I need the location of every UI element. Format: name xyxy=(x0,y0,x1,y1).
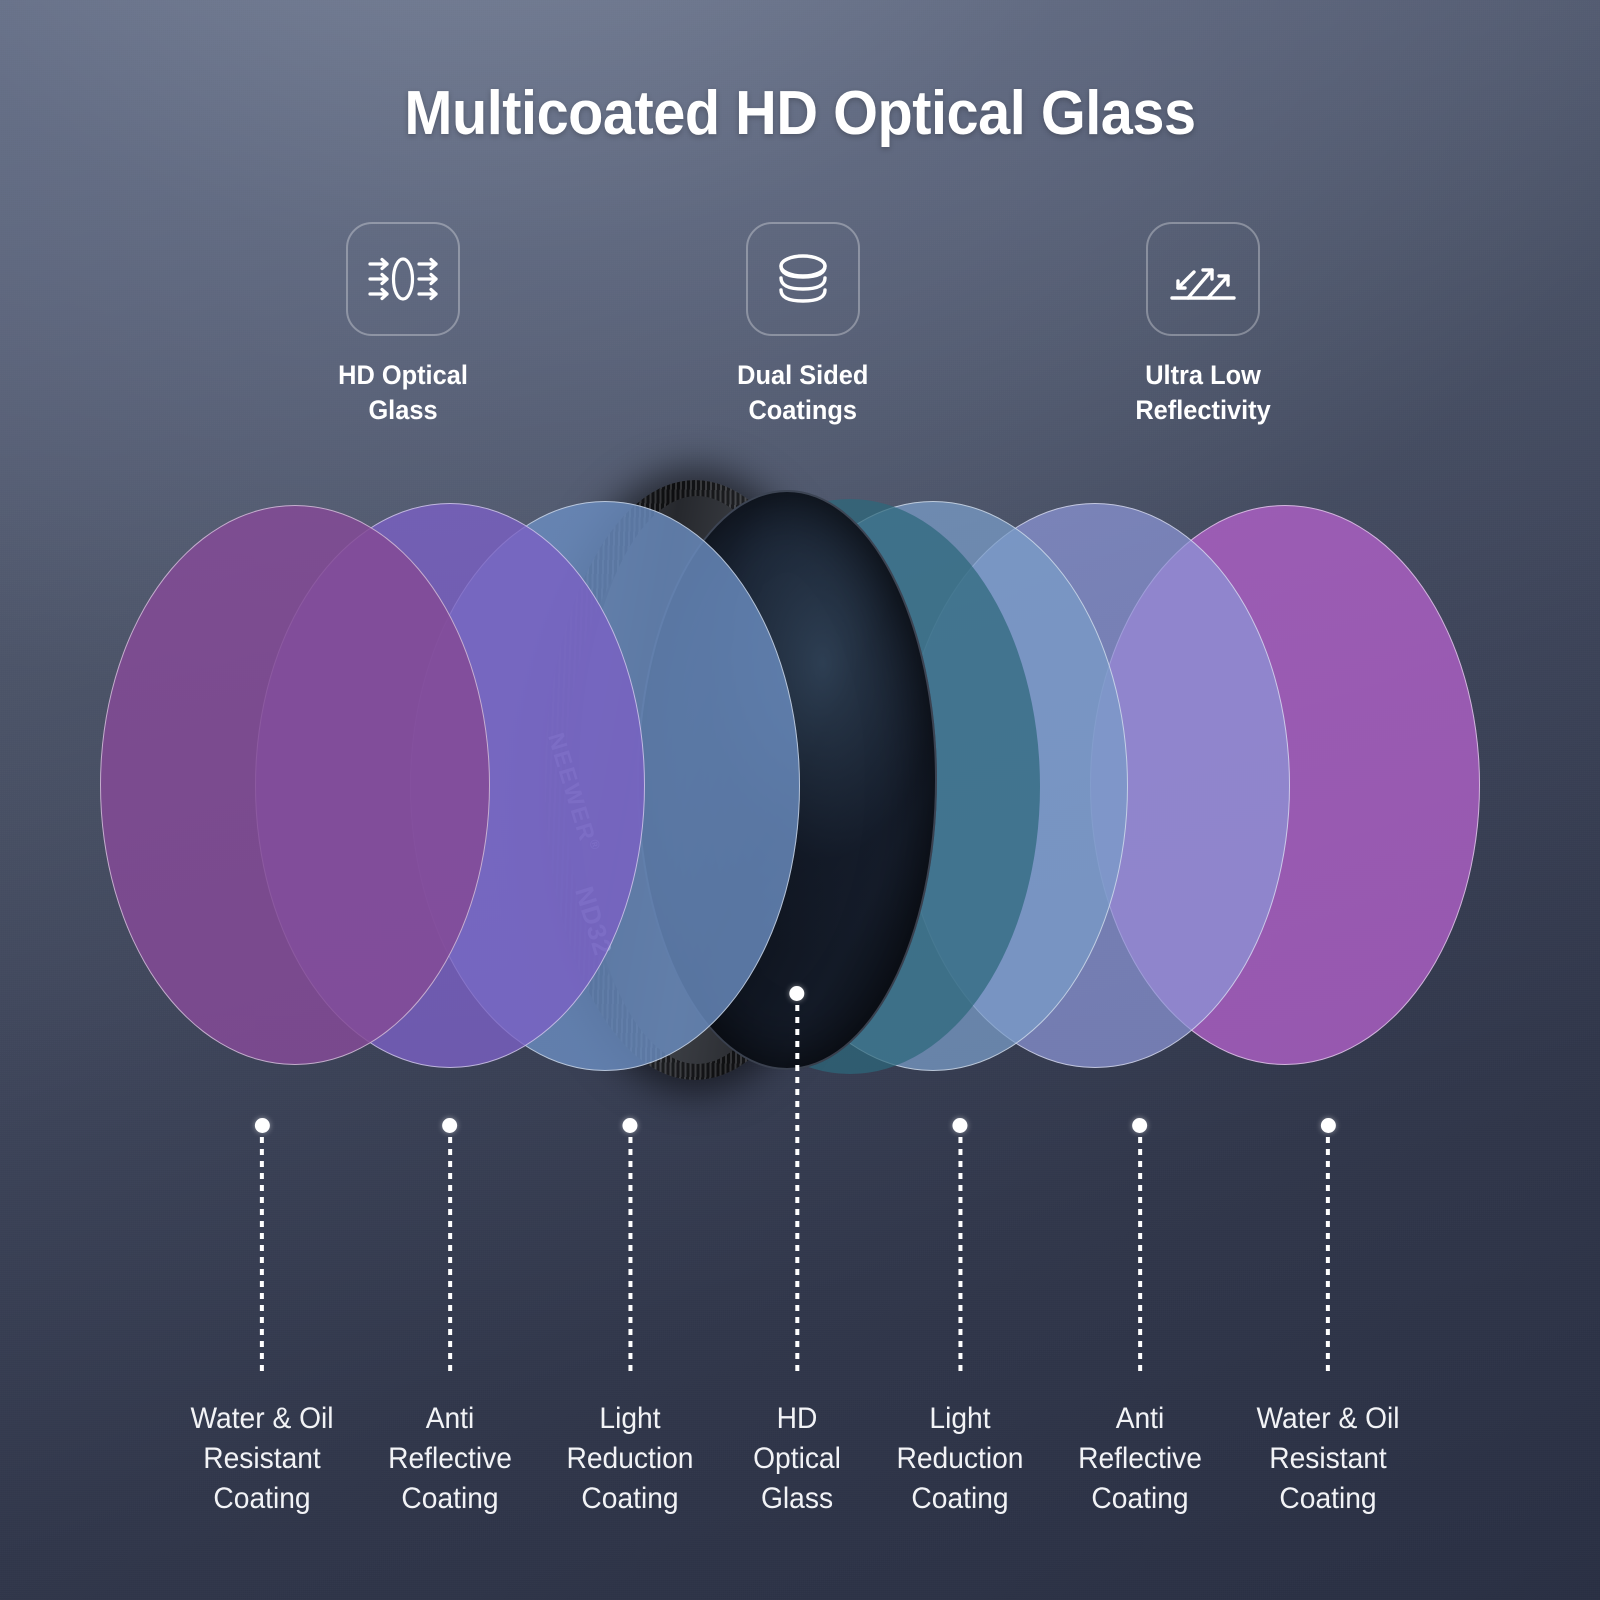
callout-light-reduction-left: Light Reduction Coating xyxy=(562,1118,697,1519)
callout-label: Water & Oil Resistant Coating xyxy=(190,1399,333,1519)
callout-dashed-line xyxy=(1326,1137,1330,1377)
callout-dot xyxy=(953,1118,968,1133)
callout-dot xyxy=(623,1118,638,1133)
callout-light-reduction-right: Light Reduction Coating xyxy=(892,1118,1027,1519)
callout-dashed-line xyxy=(795,1005,799,1377)
callout-label: HD Optical Glass xyxy=(753,1399,841,1519)
callout-anti-reflective-right: Anti Reflective Coating xyxy=(1074,1118,1206,1519)
callout-dashed-line xyxy=(448,1137,452,1377)
callout-label: Water & Oil Resistant Coating xyxy=(1256,1399,1399,1519)
callout-dashed-line xyxy=(1138,1137,1142,1377)
callout-label: Light Reduction Coating xyxy=(897,1399,1024,1519)
callout-dot xyxy=(790,986,805,1001)
callout-anti-reflective-left: Anti Reflective Coating xyxy=(384,1118,516,1519)
callout-dot xyxy=(1321,1118,1336,1133)
callout-dot xyxy=(1133,1118,1148,1133)
callout-water-oil-left: Water & Oil Resistant Coating xyxy=(186,1118,338,1519)
callout-dashed-line xyxy=(260,1137,264,1377)
callout-group: Water & Oil Resistant Coating Anti Refle… xyxy=(0,0,1600,1600)
callout-dashed-line xyxy=(628,1137,632,1377)
callout-hd-optical-glass: HD Optical Glass xyxy=(750,986,843,1519)
callout-dot xyxy=(255,1118,270,1133)
callout-label: Light Reduction Coating xyxy=(567,1399,694,1519)
callout-water-oil-right: Water & Oil Resistant Coating xyxy=(1252,1118,1404,1519)
callout-dot xyxy=(443,1118,458,1133)
callout-label: Anti Reflective Coating xyxy=(1078,1399,1202,1519)
callout-dashed-line xyxy=(958,1137,962,1377)
infographic-canvas: Multicoated HD Optical Glass xyxy=(0,0,1600,1600)
callout-label: Anti Reflective Coating xyxy=(388,1399,512,1519)
